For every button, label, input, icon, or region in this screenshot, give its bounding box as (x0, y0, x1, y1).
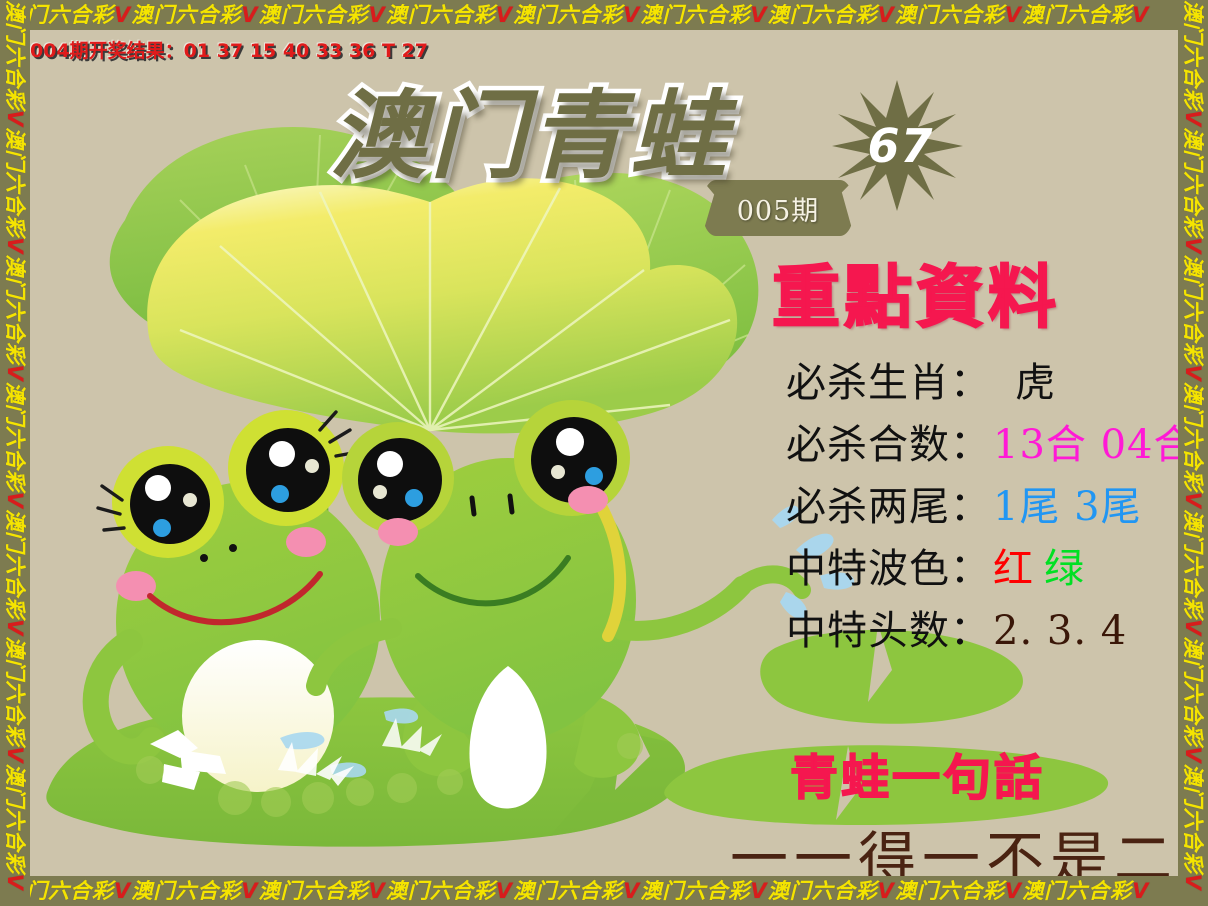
info-label-sum: 必杀合数： (786, 422, 991, 468)
border-right-text: 澳门六合彩V澳门六合彩V澳门六合彩V澳门六合彩V澳门六合彩V澳门六合彩V澳门六合… (1178, 0, 1208, 906)
info-value-wave-green: 绿 (1044, 546, 1085, 592)
info-value-tails: 1尾 3尾 (993, 484, 1142, 530)
lottery-poster: 004期开奖结果：01 37 15 40 33 36 T 27 澳门青蛙 67 … (0, 0, 1208, 906)
info-label-tails: 必杀两尾： (786, 484, 991, 530)
info-row-sum: 必杀合数：13合 04合 (786, 412, 1178, 470)
border-right: 澳门六合彩V澳门六合彩V澳门六合彩V澳门六合彩V澳门六合彩V澳门六合彩V澳门六合… (1178, 0, 1208, 906)
info-value-wave-red: 红 (993, 546, 1034, 592)
info-label-head-numbers: 中特头数： (786, 608, 991, 654)
info-value-sum: 13合 04合 (993, 422, 1178, 468)
info-label-wave-color: 中特波色： (786, 546, 991, 592)
key-info-heading: 重點資料 (772, 242, 1060, 341)
frog-saying-phrase: 一一得一不是二 (730, 812, 1178, 876)
border-bottom: 澳门六合彩V澳门六合彩V澳门六合彩V澳门六合彩V澳门六合彩V澳门六合彩V澳门六合… (0, 876, 1208, 906)
info-label-zodiac: 必杀生肖： (786, 360, 991, 406)
border-top: 澳门六合彩V澳门六合彩V澳门六合彩V澳门六合彩V澳门六合彩V澳门六合彩V澳门六合… (0, 0, 1208, 30)
frog-saying-heading: 青蛙一句話 (790, 738, 1045, 808)
info-row-head-numbers: 中特头数：2. 3. 4 (786, 598, 1127, 656)
info-row-tails: 必杀两尾：1尾 3尾 (786, 474, 1142, 532)
page-title: 澳门青蛙 (330, 58, 730, 197)
border-bottom-text: 澳门六合彩V澳门六合彩V澳门六合彩V澳门六合彩V澳门六合彩V澳门六合彩V澳门六合… (4, 876, 1149, 906)
info-value-zodiac: 虎 (1015, 360, 1056, 406)
border-left-text: 澳门六合彩V澳门六合彩V澳门六合彩V澳门六合彩V澳门六合彩V澳门六合彩V澳门六合… (0, 0, 30, 906)
border-left: 澳门六合彩V澳门六合彩V澳门六合彩V澳门六合彩V澳门六合彩V澳门六合彩V澳门六合… (0, 0, 30, 906)
previous-draw-result: 004期开奖结果：01 37 15 40 33 36 T 27 (30, 36, 428, 63)
poster-inner-panel: 004期开奖结果：01 37 15 40 33 36 T 27 澳门青蛙 67 … (30, 30, 1178, 876)
info-row-zodiac: 必杀生肖：虎 (786, 350, 1056, 408)
info-value-head-numbers: 2. 3. 4 (993, 608, 1127, 654)
info-row-wave-color: 中特波色：红绿 (786, 536, 1085, 594)
border-top-text: 澳门六合彩V澳门六合彩V澳门六合彩V澳门六合彩V澳门六合彩V澳门六合彩V澳门六合… (4, 0, 1149, 30)
